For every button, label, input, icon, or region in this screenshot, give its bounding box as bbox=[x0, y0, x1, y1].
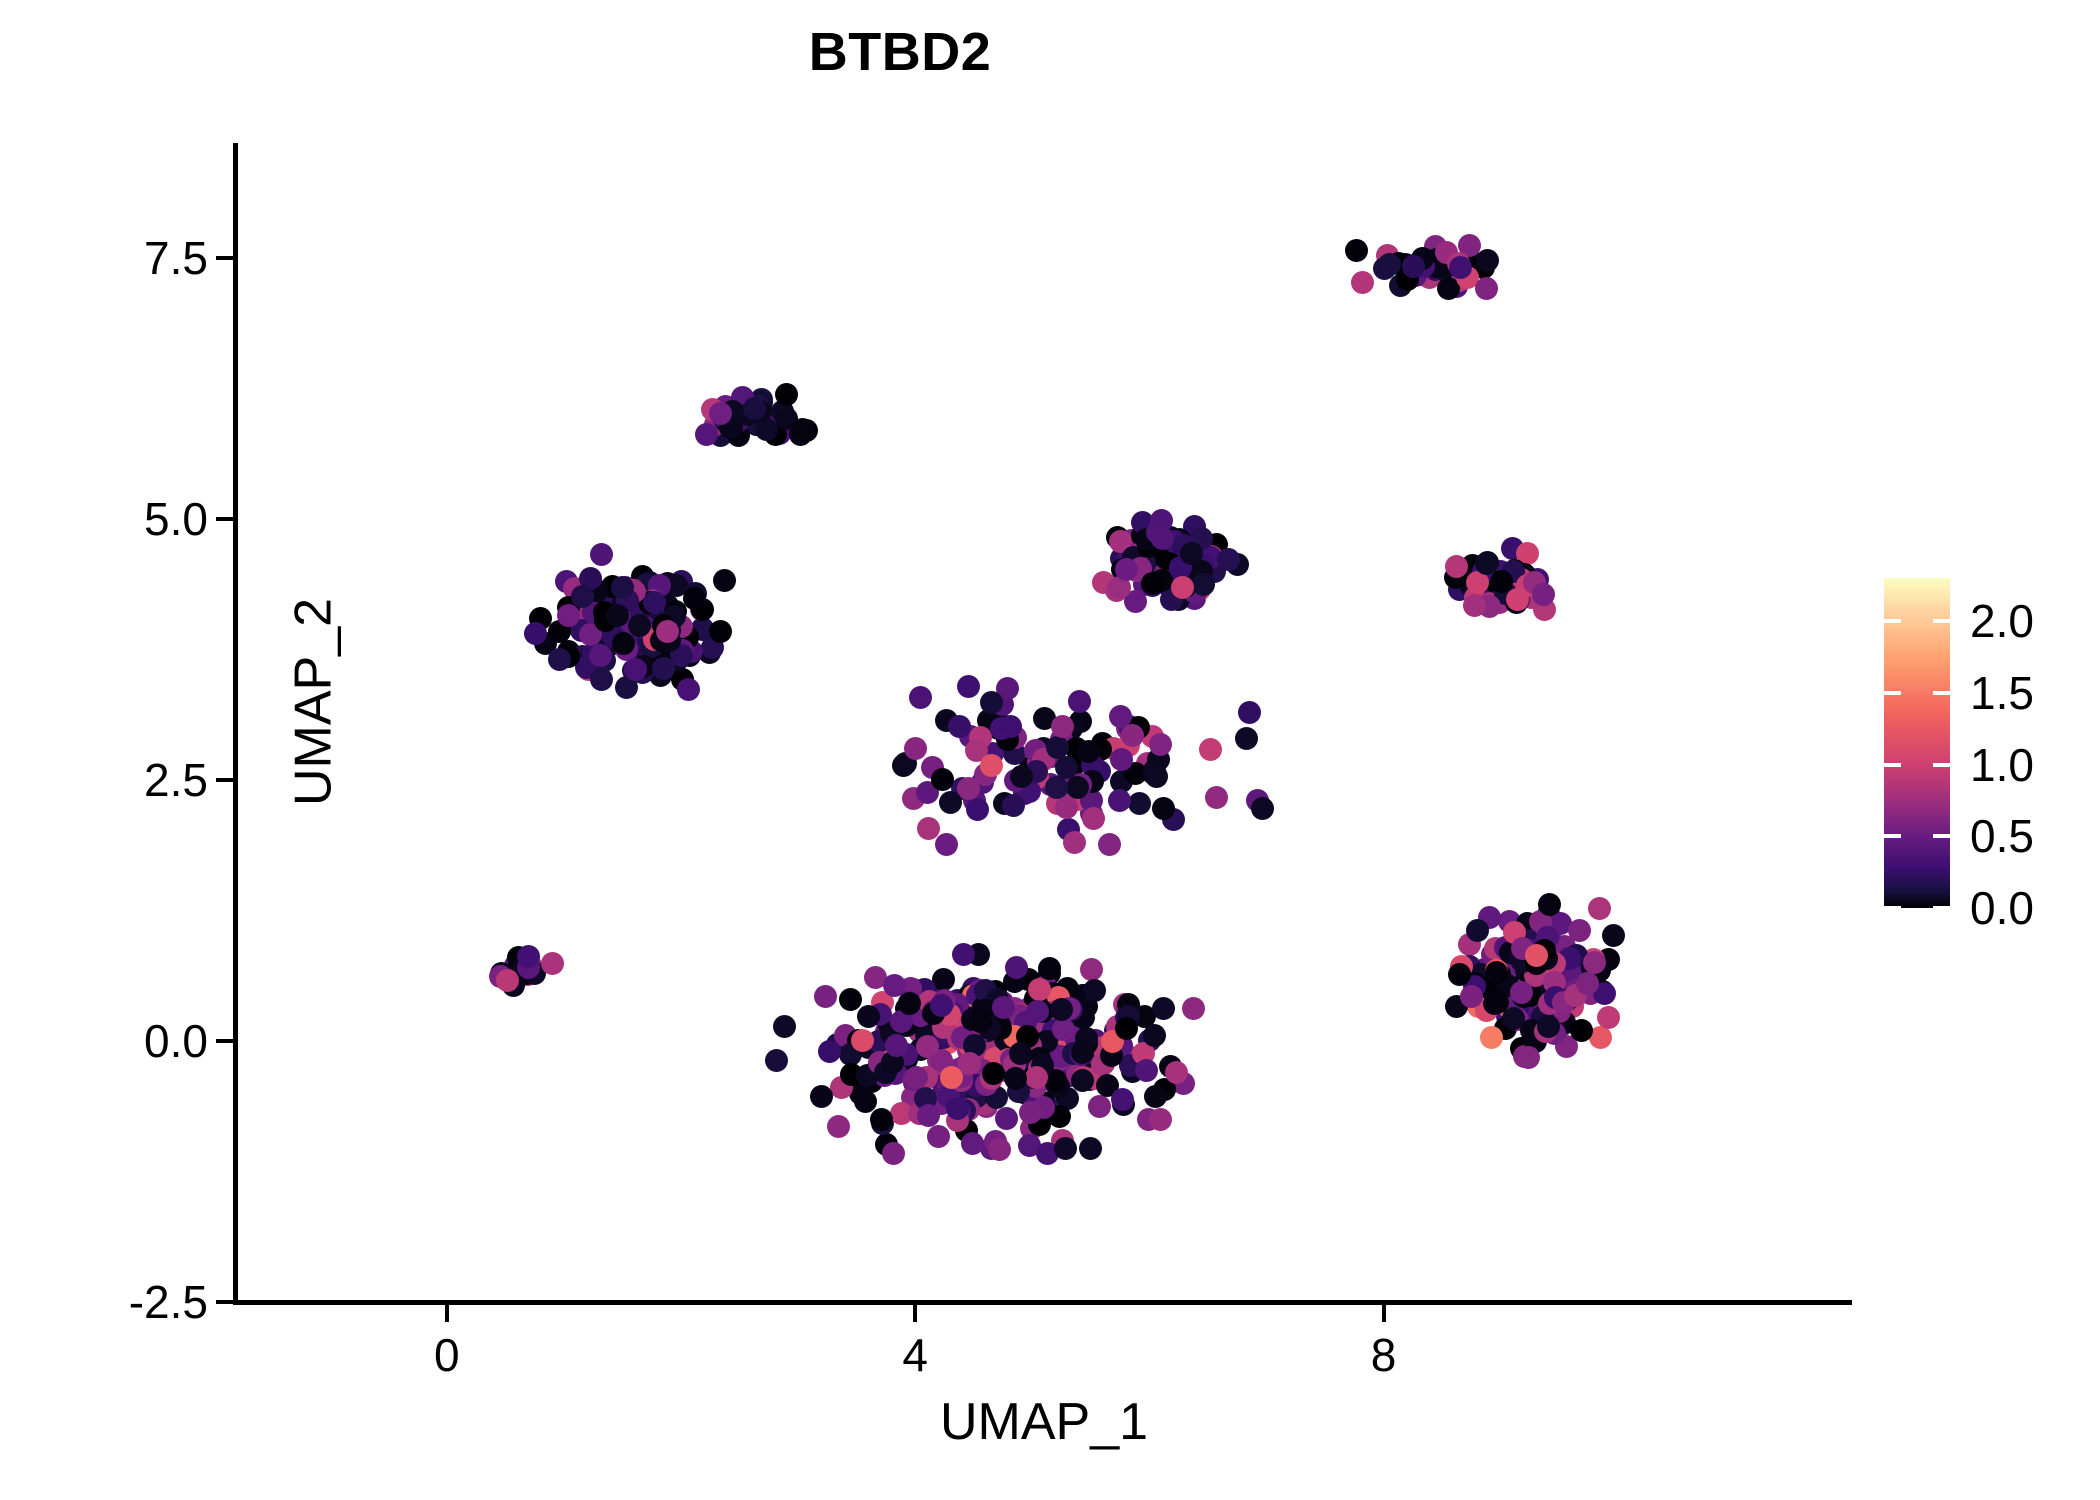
y-tick-label: -2.5 bbox=[40, 1279, 208, 1325]
scatter-point bbox=[1079, 1137, 1102, 1160]
scatter-point bbox=[1055, 796, 1078, 819]
scatter-point bbox=[1538, 893, 1561, 916]
scatter-point bbox=[1235, 727, 1258, 750]
scatter-point bbox=[1083, 979, 1106, 1002]
scatter-point bbox=[1445, 555, 1468, 578]
scatter-point bbox=[1026, 1000, 1049, 1023]
scatter-point bbox=[652, 657, 675, 680]
scatter-point bbox=[1009, 1042, 1032, 1065]
scatter-point bbox=[606, 604, 629, 627]
colorbar-tick-segment-right bbox=[1933, 906, 1950, 910]
scatter-point bbox=[683, 587, 706, 610]
colorbar-tick-mark bbox=[1884, 834, 1950, 838]
x-tick-label: 0 bbox=[387, 1332, 507, 1378]
y-tick-mark bbox=[216, 1300, 233, 1304]
colorbar-tick-label: 0.5 bbox=[1970, 813, 2034, 859]
scatter-point bbox=[939, 791, 962, 814]
scatter-point bbox=[909, 686, 932, 709]
scatter-point bbox=[1010, 765, 1033, 788]
scatter-point bbox=[1149, 1108, 1172, 1131]
scatter-point bbox=[1460, 985, 1483, 1008]
scatter-point bbox=[765, 1049, 788, 1072]
scatter-point bbox=[1475, 277, 1498, 300]
scatter-point bbox=[1490, 570, 1513, 593]
colorbar-tick-label: 1.0 bbox=[1970, 742, 2034, 788]
scatter-point bbox=[1205, 786, 1228, 809]
scatter-point bbox=[1602, 924, 1625, 947]
scatter-point bbox=[1149, 733, 1172, 756]
x-tick-label: 4 bbox=[855, 1332, 975, 1378]
scatter-point bbox=[870, 1108, 893, 1131]
x-tick-mark bbox=[913, 1305, 917, 1322]
scatter-point bbox=[743, 397, 766, 420]
scatter-point bbox=[775, 383, 798, 406]
scatter-point bbox=[1576, 972, 1599, 995]
scatter-point bbox=[1570, 1019, 1593, 1042]
colorbar-tick-label: 2.0 bbox=[1970, 598, 2034, 644]
scatter-point bbox=[1098, 833, 1121, 856]
scatter-point bbox=[589, 644, 612, 667]
scatter-point bbox=[905, 1066, 928, 1089]
colorbar-tick-segment-right bbox=[1933, 834, 1950, 838]
scatter-point bbox=[1005, 956, 1028, 979]
scatter-point bbox=[791, 418, 814, 441]
scatter-point bbox=[1110, 748, 1133, 771]
scatter-point bbox=[1082, 807, 1105, 830]
scatter-point bbox=[957, 675, 980, 698]
scatter-point bbox=[1128, 792, 1151, 815]
scatter-point bbox=[1517, 1046, 1540, 1069]
y-tick-label: 0.0 bbox=[40, 1018, 208, 1064]
colorbar-legend: 2.01.51.00.50.0 bbox=[1884, 578, 2094, 918]
y-tick-label: 5.0 bbox=[40, 496, 208, 542]
scatter-point bbox=[1402, 255, 1425, 278]
scatter-point bbox=[709, 402, 732, 425]
scatter-point bbox=[814, 985, 837, 1008]
colorbar-tick-label: 1.5 bbox=[1970, 670, 2034, 716]
scatter-point bbox=[1088, 1095, 1111, 1118]
y-tick-label: 2.5 bbox=[40, 757, 208, 803]
scatter-point bbox=[1144, 1085, 1167, 1108]
scatter-point bbox=[1054, 1137, 1077, 1160]
scatter-point bbox=[958, 1052, 981, 1075]
scatter-point bbox=[1019, 1101, 1042, 1124]
scatter-point bbox=[773, 1015, 796, 1038]
scatter-point bbox=[810, 1085, 833, 1108]
scatter-point bbox=[1071, 1041, 1094, 1064]
scatter-point bbox=[1583, 951, 1606, 974]
scatter-point bbox=[517, 945, 540, 968]
scatter-point bbox=[818, 1040, 841, 1063]
scatter-point bbox=[1050, 998, 1073, 1021]
scatter-point bbox=[1004, 1067, 1027, 1090]
scatter-point bbox=[1532, 583, 1555, 606]
scatter-point bbox=[1002, 794, 1025, 817]
x-axis-line bbox=[233, 1300, 1852, 1305]
scatter-point bbox=[857, 1005, 880, 1028]
x-axis-label: UMAP_1 bbox=[236, 1393, 1852, 1451]
scatter-point bbox=[839, 988, 862, 1011]
scatter-point bbox=[948, 715, 971, 738]
scatter-point bbox=[1046, 736, 1069, 759]
scatter-point bbox=[1152, 997, 1175, 1020]
scatter-point bbox=[1537, 1015, 1560, 1038]
scatter-point bbox=[1135, 1059, 1158, 1082]
scatter-point bbox=[1345, 239, 1368, 262]
page-title: BTBD2 bbox=[0, 22, 1800, 82]
scatter-point bbox=[541, 952, 564, 975]
scatter-point bbox=[980, 754, 1003, 777]
colorbar-tick-segment-right bbox=[1933, 691, 1950, 695]
scatter-point bbox=[1182, 997, 1205, 1020]
scatter-point bbox=[982, 1062, 1005, 1085]
scatter-point bbox=[966, 798, 989, 821]
scatter-point bbox=[927, 1125, 950, 1148]
scatter-point bbox=[624, 658, 647, 681]
scatter-point bbox=[1028, 978, 1051, 1001]
scatter-point bbox=[1051, 715, 1074, 738]
scatter-point bbox=[709, 620, 732, 643]
scatter-point bbox=[946, 1097, 969, 1120]
scatter-point bbox=[695, 423, 718, 446]
scatter-point bbox=[1192, 573, 1215, 596]
y-tick-mark bbox=[216, 778, 233, 782]
scatter-point bbox=[1068, 690, 1091, 713]
colorbar-tick-segment-left bbox=[1884, 691, 1901, 695]
scatter-point bbox=[1052, 1018, 1075, 1041]
scatter-point bbox=[1063, 831, 1086, 854]
y-tick-mark bbox=[216, 256, 233, 260]
scatter-point bbox=[1448, 963, 1471, 986]
scatter-point bbox=[916, 1035, 939, 1058]
scatter-point bbox=[557, 604, 580, 627]
x-tick-mark bbox=[445, 1305, 449, 1322]
scatter-point bbox=[1045, 776, 1068, 799]
y-tick-mark bbox=[216, 517, 233, 521]
scatter-point bbox=[1152, 797, 1175, 820]
scatter-point bbox=[827, 1115, 850, 1138]
scatter-point bbox=[1199, 738, 1222, 761]
scatter-point bbox=[995, 1107, 1018, 1130]
colorbar-tick-mark bbox=[1884, 619, 1950, 623]
scatter-point bbox=[930, 994, 953, 1017]
scatter-point bbox=[1351, 271, 1374, 294]
scatter-point bbox=[961, 1132, 984, 1155]
scatter-point bbox=[1506, 588, 1529, 611]
colorbar-tick-mark bbox=[1884, 906, 1950, 910]
scatter-point bbox=[677, 678, 700, 701]
scatter-point bbox=[1378, 253, 1401, 276]
scatter-point bbox=[1171, 576, 1194, 599]
colorbar-tick-label: 0.0 bbox=[1970, 885, 2034, 931]
scatter-point bbox=[1141, 572, 1164, 595]
y-tick-label: 7.5 bbox=[40, 235, 208, 281]
scatter-point bbox=[917, 1104, 940, 1127]
scatter-point bbox=[1480, 1026, 1503, 1049]
y-axis-label: UMAP_2 bbox=[285, 123, 343, 1282]
scatter-point bbox=[1238, 701, 1261, 724]
scatter-point bbox=[611, 576, 634, 599]
scatter-points-layer bbox=[236, 143, 1852, 1302]
scatter-point bbox=[882, 1142, 905, 1165]
scatter-point bbox=[1525, 944, 1548, 967]
scatter-point bbox=[590, 543, 613, 566]
scatter-point bbox=[1121, 724, 1144, 747]
scatter-point bbox=[1568, 919, 1591, 942]
scatter-point bbox=[1463, 594, 1486, 617]
scatter-point bbox=[643, 591, 666, 614]
plot-panel bbox=[236, 143, 1852, 1302]
scatter-point bbox=[656, 620, 679, 643]
scatter-point bbox=[548, 648, 571, 671]
scatter-point bbox=[935, 833, 958, 856]
scatter-point bbox=[1597, 1006, 1620, 1029]
scatter-point bbox=[1111, 1088, 1134, 1111]
x-tick-mark bbox=[1382, 1305, 1386, 1322]
scatter-point bbox=[1143, 1024, 1166, 1047]
scatter-point bbox=[1510, 981, 1533, 1004]
colorbar-tick-mark bbox=[1884, 691, 1950, 695]
colorbar-tick-segment-right bbox=[1933, 763, 1950, 767]
scatter-point bbox=[1588, 897, 1611, 920]
scatter-point bbox=[1165, 1061, 1188, 1084]
colorbar-tick-segment-right bbox=[1933, 619, 1950, 623]
scatter-point bbox=[1485, 961, 1508, 984]
scatter-point bbox=[1025, 1066, 1048, 1089]
scatter-point bbox=[590, 668, 613, 691]
colorbar-tick-segment-left bbox=[1884, 834, 1901, 838]
colorbar-tick-segment-left bbox=[1884, 619, 1901, 623]
scatter-point bbox=[904, 737, 927, 760]
scatter-point bbox=[988, 1138, 1011, 1161]
scatter-point bbox=[1108, 789, 1131, 812]
colorbar-tick-mark bbox=[1884, 763, 1950, 767]
scatter-point bbox=[1449, 256, 1472, 279]
figure-root: BTBD2 7.55.02.50.0-2.5 048 UMAP_1 UMAP_2… bbox=[0, 0, 2100, 1500]
scatter-point bbox=[1251, 797, 1274, 820]
x-tick-label: 8 bbox=[1324, 1332, 1444, 1378]
y-axis-line bbox=[233, 143, 238, 1305]
colorbar-gradient bbox=[1884, 578, 1950, 908]
scatter-point bbox=[1476, 249, 1499, 272]
scatter-point bbox=[1115, 1017, 1138, 1040]
scatter-point bbox=[1080, 958, 1103, 981]
scatter-point bbox=[980, 691, 1003, 714]
scatter-point bbox=[1466, 919, 1489, 942]
scatter-point bbox=[713, 569, 736, 592]
y-tick-mark bbox=[216, 1039, 233, 1043]
scatter-point bbox=[851, 1029, 874, 1052]
scatter-point bbox=[1145, 765, 1168, 788]
colorbar-tick-segment-left bbox=[1884, 763, 1901, 767]
scatter-point bbox=[1502, 1007, 1525, 1030]
colorbar-tick-segment-left bbox=[1884, 906, 1901, 910]
